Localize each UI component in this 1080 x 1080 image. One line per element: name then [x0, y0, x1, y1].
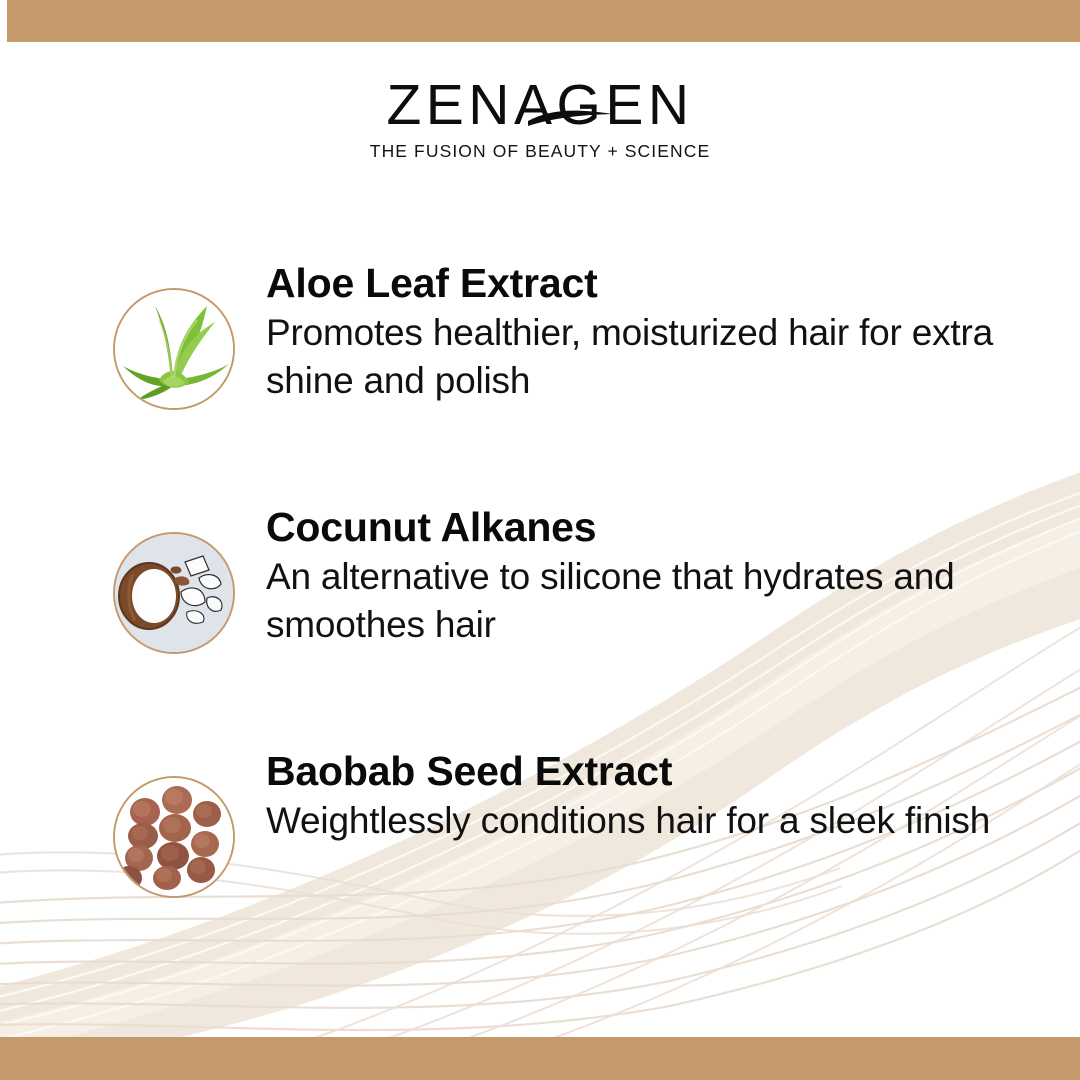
- logo-tagline: THE FUSION OF BEAUTY + SCIENCE: [0, 141, 1080, 162]
- ingredient-description: An alternative to silicone that hydrates…: [266, 553, 1026, 648]
- ingredient-description: Weightlessly conditions hair for a sleek…: [266, 797, 1026, 844]
- logo-wordmark: ZENAGEN: [386, 74, 693, 136]
- aloe-leaf-icon: [113, 288, 235, 410]
- ingredient-title: Baobab Seed Extract: [266, 750, 1040, 793]
- ingredient-infographic-page: ZENAGEN THE FUSION OF BEAUTY + SCIENCE: [0, 0, 1080, 1080]
- ingredient-icon-wrap-aloe: [96, 262, 252, 410]
- ingredient-icon-wrap-baobab: [96, 750, 252, 898]
- baobab-seed-icon: [113, 776, 235, 898]
- ingredient-title: Cocunut Alkanes: [266, 506, 1040, 549]
- ingredient-title: Aloe Leaf Extract: [266, 262, 1040, 305]
- ingredient-row-aloe: Aloe Leaf Extract Promotes healthier, mo…: [0, 262, 1080, 506]
- ingredient-description: Promotes healthier, moisturized hair for…: [266, 309, 1026, 404]
- ingredient-list: Aloe Leaf Extract Promotes healthier, mo…: [0, 262, 1080, 994]
- brand-logo: ZENAGEN THE FUSION OF BEAUTY + SCIENCE: [0, 74, 1080, 162]
- top-brand-band: [0, 0, 1080, 42]
- ingredient-row-baobab: Baobab Seed Extract Weightlessly conditi…: [0, 750, 1080, 994]
- coconut-icon: [113, 532, 235, 654]
- logo-wordmark-wrap: ZENAGEN: [386, 74, 693, 136]
- top-band-left-sliver: [0, 0, 7, 42]
- ingredient-copy-baobab: Baobab Seed Extract Weightlessly conditi…: [252, 750, 1080, 845]
- ingredient-copy-coconut: Cocunut Alkanes An alternative to silico…: [252, 506, 1080, 648]
- ingredient-row-coconut: Cocunut Alkanes An alternative to silico…: [0, 506, 1080, 750]
- bottom-brand-band: [0, 1037, 1080, 1080]
- ingredient-icon-wrap-coconut: [96, 506, 252, 654]
- ingredient-copy-aloe: Aloe Leaf Extract Promotes healthier, mo…: [252, 262, 1080, 404]
